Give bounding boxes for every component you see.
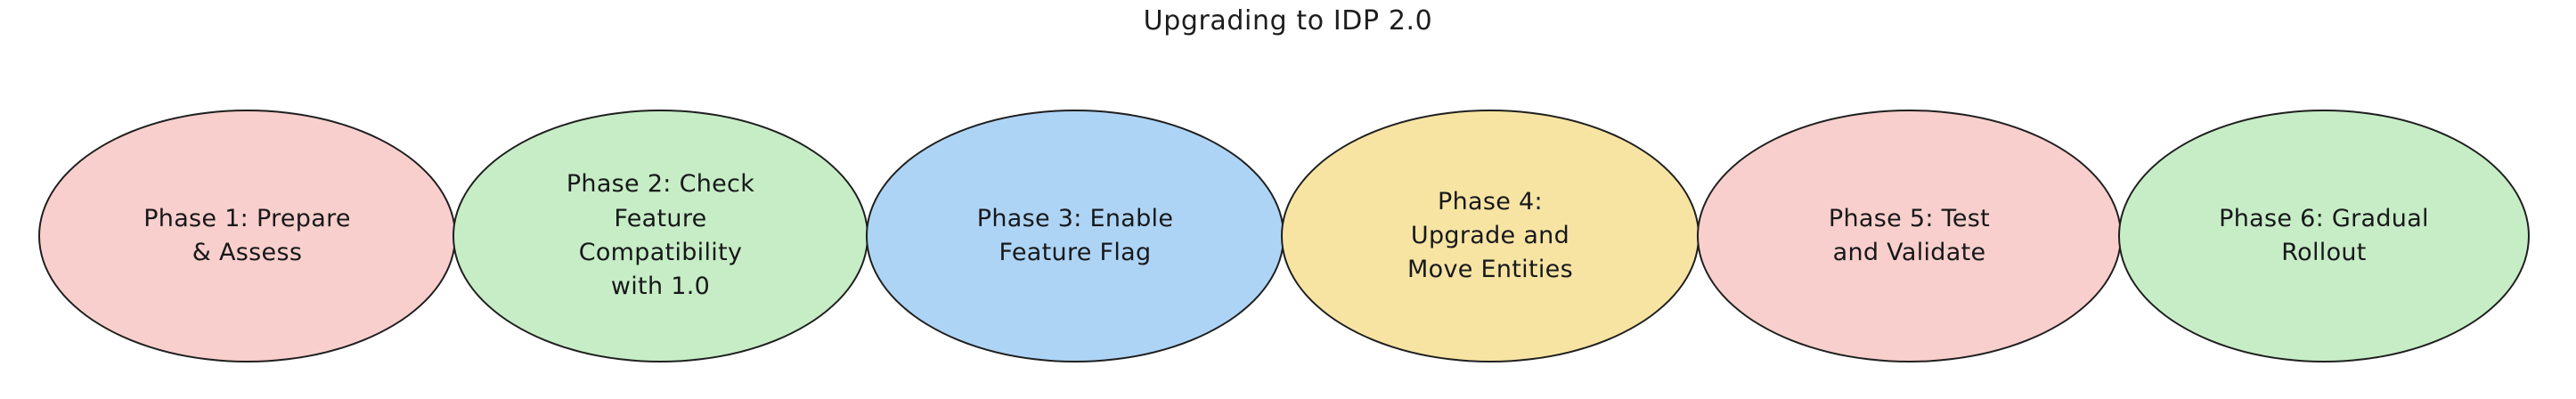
flow-node-phase-2[interactable]: Phase 2: Check Feature Compatibility wit… bbox=[452, 110, 868, 362]
flow-node-phase-1[interactable]: Phase 1: Prepare & Assess bbox=[38, 110, 456, 362]
flow-node-label: Phase 1: Prepare & Assess bbox=[113, 202, 381, 271]
flow-node-label: Phase 3: Enable Feature Flag bbox=[947, 202, 1204, 271]
diagram-canvas: Upgrading to IDP 2.0 Phase 1: Prepare & … bbox=[0, 0, 2576, 399]
flow-node-label: Phase 6: Gradual Rollout bbox=[2189, 202, 2459, 271]
flow-node-label: Phase 2: Check Feature Compatibility wit… bbox=[536, 167, 785, 304]
flow-node-phase-4[interactable]: Phase 4: Upgrade and Move Entities bbox=[1281, 110, 1700, 362]
flow-node-label: Phase 4: Upgrade and Move Entities bbox=[1377, 185, 1603, 288]
node-row: Phase 1: Prepare & Assess Phase 2: Check… bbox=[0, 110, 2576, 362]
flow-node-phase-3[interactable]: Phase 3: Enable Feature Flag bbox=[866, 110, 1284, 362]
diagram-title: Upgrading to IDP 2.0 bbox=[0, 5, 2576, 37]
flow-node-phase-5[interactable]: Phase 5: Test and Validate bbox=[1697, 110, 2122, 362]
flow-node-label: Phase 5: Test and Validate bbox=[1798, 202, 2020, 271]
flow-node-phase-6[interactable]: Phase 6: Gradual Rollout bbox=[2118, 110, 2530, 362]
